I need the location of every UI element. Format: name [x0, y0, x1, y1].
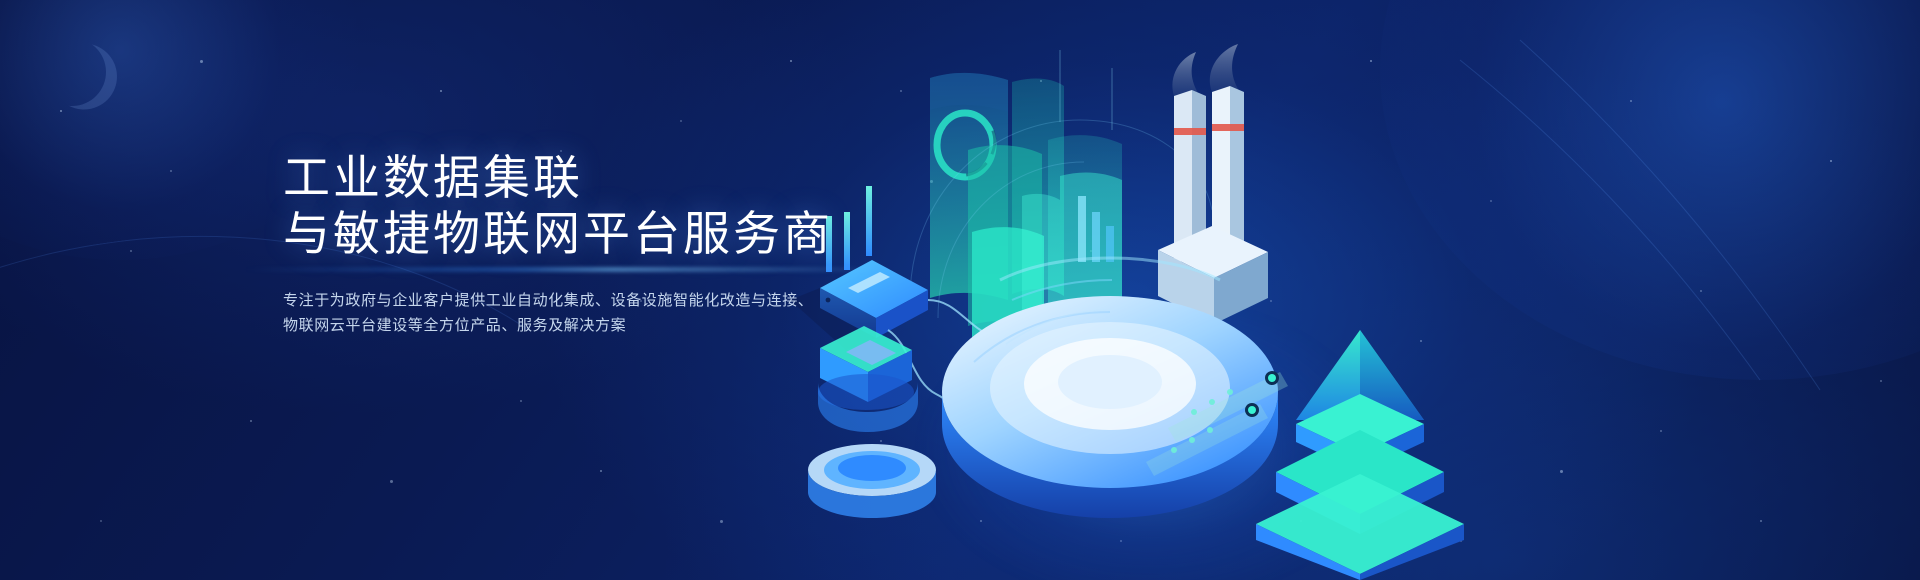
headline-line-1: 工业数据集联 — [283, 150, 903, 206]
hero-banner: 工业数据集联 与敏捷物联网平台服务商 专注于为政府与企业客户提供工业自动化集成、… — [0, 0, 1920, 580]
illustration-svg — [760, 0, 1920, 580]
headline-line-2: 与敏捷物联网平台服务商 — [283, 206, 903, 262]
right-glow-lines — [1460, 40, 1820, 390]
chimney-band-right — [1212, 124, 1244, 131]
cylinder-ring — [818, 326, 918, 432]
disc-platform-small — [808, 444, 936, 518]
pyramid-stack — [1256, 330, 1464, 580]
smokestack-plant — [1158, 44, 1268, 324]
hero-copy: 工业数据集联 与敏捷物联网平台服务商 专注于为政府与企业客户提供工业自动化集成、… — [283, 150, 903, 338]
smoke-plume-left — [1172, 52, 1200, 96]
hero-illustration — [760, 0, 1920, 580]
subtitle-line-1: 专注于为政府与企业客户提供工业自动化集成、设备设施智能化改造与连接、 — [283, 288, 903, 313]
smoke-plume-right — [1210, 44, 1240, 92]
hero-subtitle: 专注于为政府与企业客户提供工业自动化集成、设备设施智能化改造与连接、 物联网云平… — [283, 288, 903, 338]
subtitle-line-2: 物联网云平台建设等全方位产品、服务及解决方案 — [283, 313, 903, 338]
data-streaks — [1060, 50, 1112, 130]
crescent-moon-icon — [29, 29, 115, 115]
chimney-band-left — [1174, 128, 1206, 135]
